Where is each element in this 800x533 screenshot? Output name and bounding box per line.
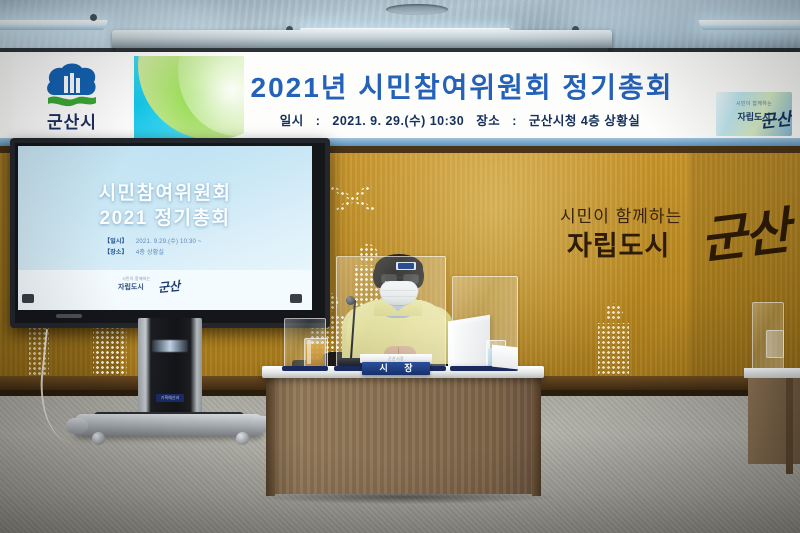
monitor-datetime-row: 【일시】2021. 9.29.(수) 10:30 ~ bbox=[104, 236, 202, 245]
monitor-place-label: 【장소】 bbox=[104, 250, 128, 256]
perforated-panel-figure bbox=[586, 300, 642, 378]
photo-scene: 군산시 2021년 시민참여위원회 정기총회 일시 : 2021. 9. 29.… bbox=[0, 0, 800, 533]
gunsan-city-emblem-icon bbox=[42, 62, 100, 108]
monitor-control-strip[interactable] bbox=[56, 314, 82, 318]
banner-sep-2: : bbox=[512, 114, 517, 128]
monitor-title-line2: 2021 정기총회 bbox=[18, 203, 312, 230]
banner-sep-1: : bbox=[316, 114, 321, 128]
side-desk-surface bbox=[744, 368, 800, 378]
desk-leg-left bbox=[266, 378, 275, 496]
monitor-datetime-label: 【일시】 bbox=[104, 239, 128, 245]
ceiling-fixture-dot bbox=[90, 14, 97, 21]
monitor-footer-main: 자립도시 bbox=[118, 282, 144, 292]
banner-place-label: 장소 bbox=[476, 114, 500, 128]
caster-wheel bbox=[236, 432, 249, 445]
ceiling-vent bbox=[386, 4, 448, 15]
banner-title: 2021년 시민참여위원회 정기총회 bbox=[212, 66, 712, 106]
monitor-title-line1: 시민참여위원회 bbox=[18, 178, 312, 205]
banner-datetime-label: 일시 bbox=[280, 114, 304, 128]
monitor-bezel-tab-right bbox=[290, 294, 302, 303]
monitor-bezel-tab-left bbox=[22, 294, 34, 303]
monitor-place-row: 【장소】4층 상황실 bbox=[104, 247, 164, 256]
side-desk-leg bbox=[786, 378, 793, 474]
document-sheet-front bbox=[492, 345, 518, 370]
ceiling-light-right bbox=[698, 20, 800, 30]
banner-datetime-value: 2021. 9. 29.(수) 10:30 bbox=[332, 114, 464, 128]
acrylic-base-left bbox=[282, 366, 328, 371]
nameplate-text: 시 장 bbox=[362, 362, 430, 375]
monitor-cart-brand-plate bbox=[152, 340, 188, 352]
banner-slogan-logo: 시민이 함께하는 자립도시 군산 bbox=[716, 92, 792, 136]
banner-place-value: 군산시청 4층 상황실 bbox=[529, 114, 640, 128]
perforated-panel-bird-icon bbox=[330, 186, 376, 212]
water-glass-far-right bbox=[766, 330, 784, 358]
wall-slogan-brand: 군산 bbox=[696, 191, 792, 273]
projector-screen-housing bbox=[112, 30, 612, 50]
monitor-footer-brand: 군산 bbox=[157, 277, 181, 296]
banner-slogan-brand: 군산 bbox=[759, 104, 792, 132]
monitor-place-value: 4층 상황실 bbox=[136, 250, 164, 256]
ceiling-light-left bbox=[0, 20, 108, 30]
document-sheet bbox=[454, 319, 490, 371]
monitor-datetime-value: 2021. 9.29.(수) 10:30 ~ bbox=[136, 239, 202, 245]
acrylic-divider-tag-inner bbox=[398, 263, 414, 269]
wall-slogan-main: 자립도시 bbox=[567, 224, 670, 263]
monitor-cart-department-text: 기획예산과 bbox=[156, 394, 184, 402]
banner-subtitle: 일시 : 2021. 9. 29.(수) 10:30 장소 : 군산시청 4층 … bbox=[200, 110, 720, 129]
city-logo-label: 군산시 bbox=[30, 108, 114, 133]
monitor-screen: 시민참여위원회 2021 정기총회 【일시】2021. 9.29.(수) 10:… bbox=[18, 146, 312, 310]
microphone-head bbox=[346, 296, 355, 305]
desk-leg-right bbox=[532, 378, 541, 496]
desk-wood-grain bbox=[272, 378, 534, 494]
barley-tea-highlight bbox=[307, 340, 311, 364]
